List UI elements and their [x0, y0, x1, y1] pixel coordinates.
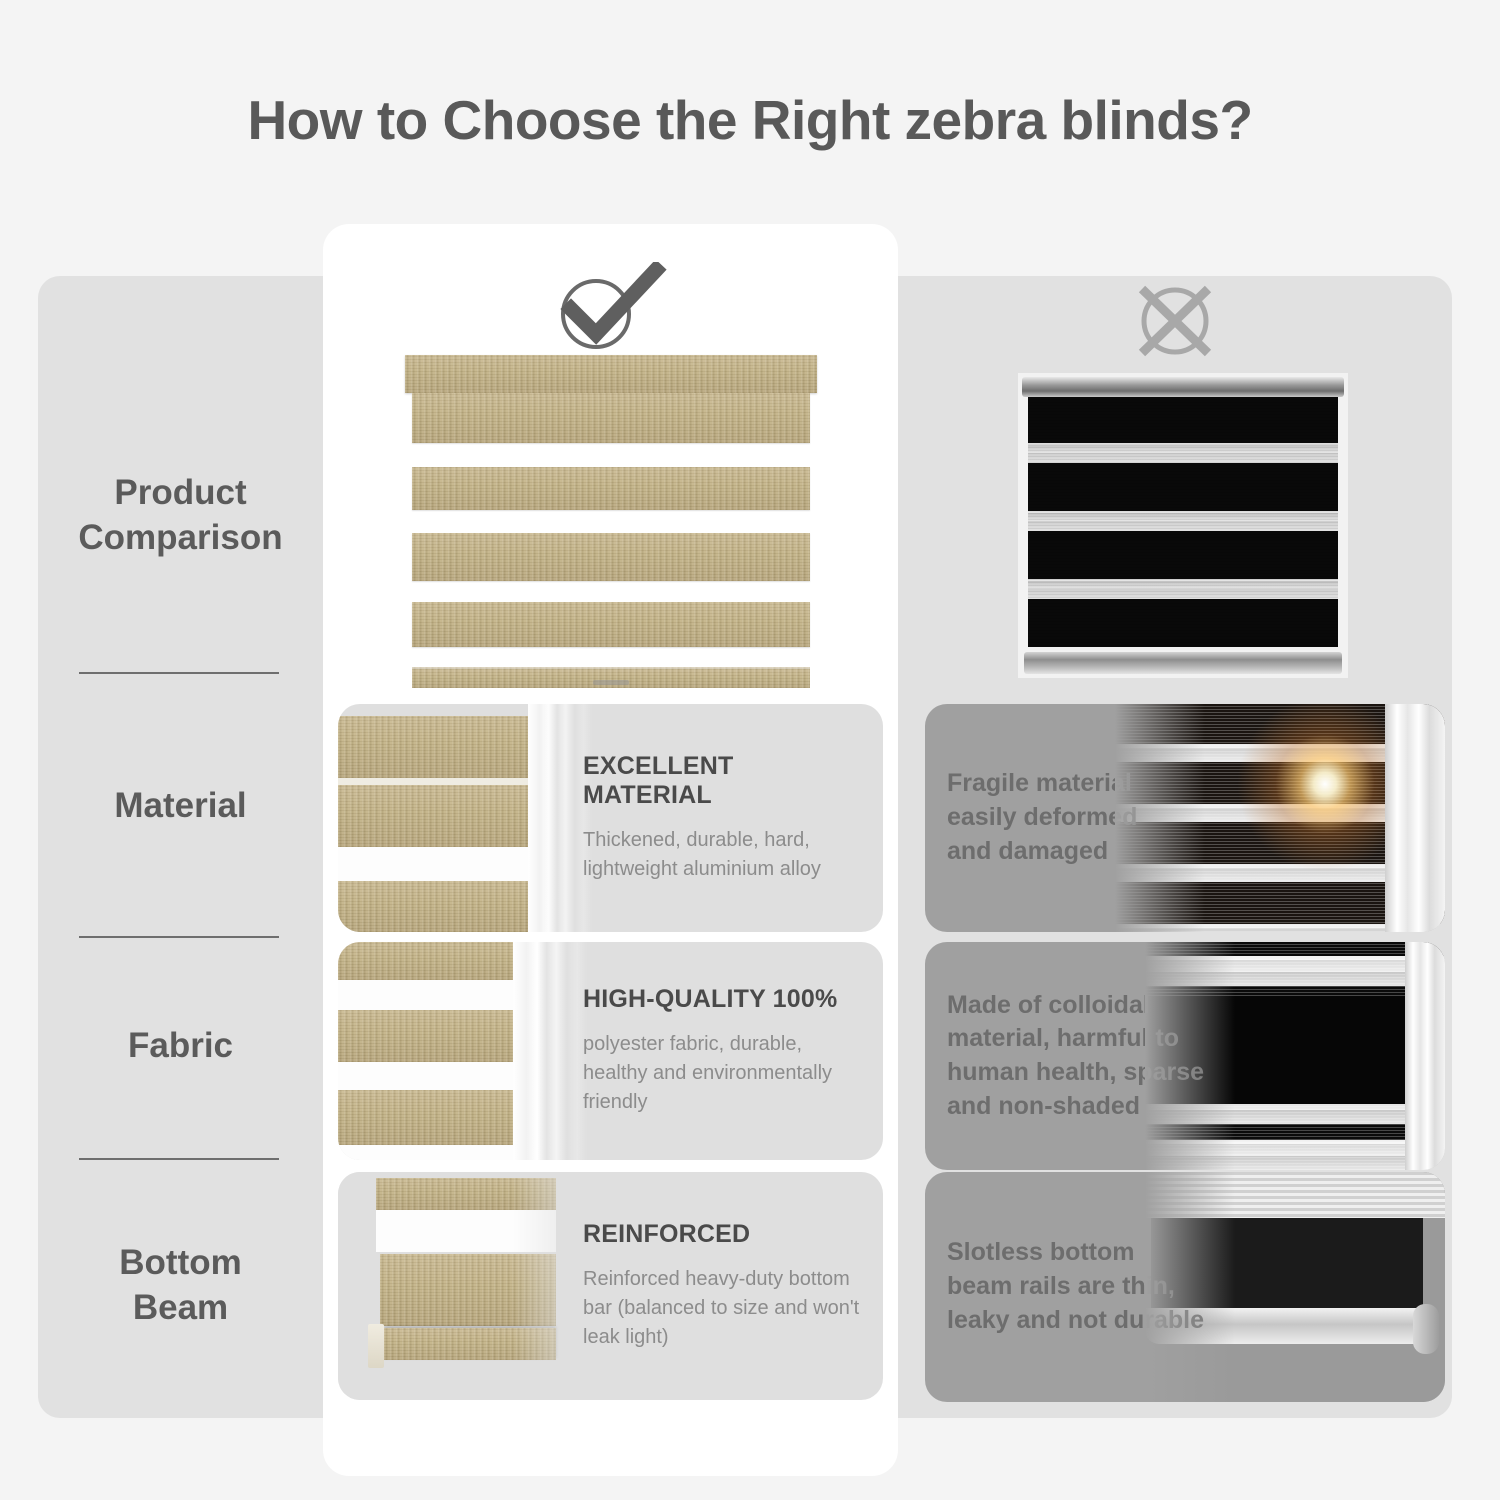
blind-bottom-bar: [412, 667, 810, 688]
sidebar-row-product-comparison: ProductComparison: [38, 426, 323, 606]
window-frame: [1405, 942, 1445, 1170]
blind-slat: [412, 533, 810, 581]
bottombeam-good-text: REINFORCED Reinforced heavy-duty bottom …: [583, 1172, 883, 1400]
feature-desc: Thickened, durable, hard, lightweight al…: [583, 826, 865, 884]
blind-slat: [412, 393, 810, 443]
sidebar-label-fabric: Fabric: [128, 1024, 233, 1069]
sidebar-divider-2: [79, 936, 279, 938]
blind-slat: [412, 467, 810, 510]
material-bad-photo: [1115, 704, 1445, 932]
sidebar-row-material: Material: [38, 746, 323, 866]
black-blind-bottom-rail: [1024, 652, 1342, 674]
sidebar-row-fabric: Fabric: [38, 986, 323, 1106]
sidebar-label-product-comparison: ProductComparison: [78, 471, 282, 561]
rail-end-cap: [1413, 1304, 1439, 1354]
feature-card-bottombeam-good: REINFORCED Reinforced heavy-duty bottom …: [338, 1172, 883, 1400]
feature-card-fabric-bad: Made of colloidalmaterial, harmful tohum…: [925, 942, 1445, 1170]
sidebar-divider-3: [79, 1158, 279, 1160]
feature-card-fabric-good: HIGH-QUALITY 100% polyester fabric, dura…: [338, 942, 883, 1160]
page-title: How to Choose the Right zebra blinds?: [0, 88, 1500, 152]
sidebar-divider-1: [79, 672, 279, 674]
feature-title: REINFORCED: [583, 1220, 865, 1249]
blind-valance: [405, 355, 817, 393]
feature-desc: polyester fabric, durable, healthy and e…: [583, 1030, 865, 1117]
sidebar-row-bottom-beam: BottomBeam: [38, 1206, 323, 1366]
bottombeam-bad-photo: [1145, 1172, 1445, 1402]
feature-title: HIGH-QUALITY 100%: [583, 985, 865, 1014]
black-blind-fabric: [1028, 397, 1338, 647]
material-good-text: EXCELLENT MATERIAL Thickened, durable, h…: [583, 704, 883, 932]
check-circle-icon: [548, 262, 668, 354]
fabric-good-text: HIGH-QUALITY 100% polyester fabric, dura…: [583, 942, 883, 1160]
hero-product-bad: [1018, 373, 1348, 678]
sidebar-label-material: Material: [114, 784, 246, 829]
cross-circle-icon: [1125, 280, 1225, 362]
category-sidebar: ProductComparison Material Fabric Bottom…: [38, 276, 323, 1418]
window-frame: [1385, 704, 1445, 932]
feature-title: EXCELLENT MATERIAL: [583, 752, 865, 810]
feature-card-material-bad: Fragile materialeasily deformedand damag…: [925, 704, 1445, 932]
bottom-bar-pull-tab: [593, 680, 629, 685]
feature-card-material-good: EXCELLENT MATERIAL Thickened, durable, h…: [338, 704, 883, 932]
hero-product-good: [405, 355, 817, 700]
blind-slat: [412, 602, 810, 647]
feature-desc: Reinforced heavy-duty bottom bar (balanc…: [583, 1265, 865, 1352]
fabric-bad-photo: [1145, 942, 1445, 1170]
black-blind-headrail: [1022, 377, 1344, 397]
sidebar-label-bottom-beam: BottomBeam: [119, 1241, 241, 1331]
feature-card-bottombeam-bad: Slotless bottombeam rails are thin,leaky…: [925, 1172, 1445, 1402]
bottom-bar-end-cap: [368, 1324, 384, 1368]
